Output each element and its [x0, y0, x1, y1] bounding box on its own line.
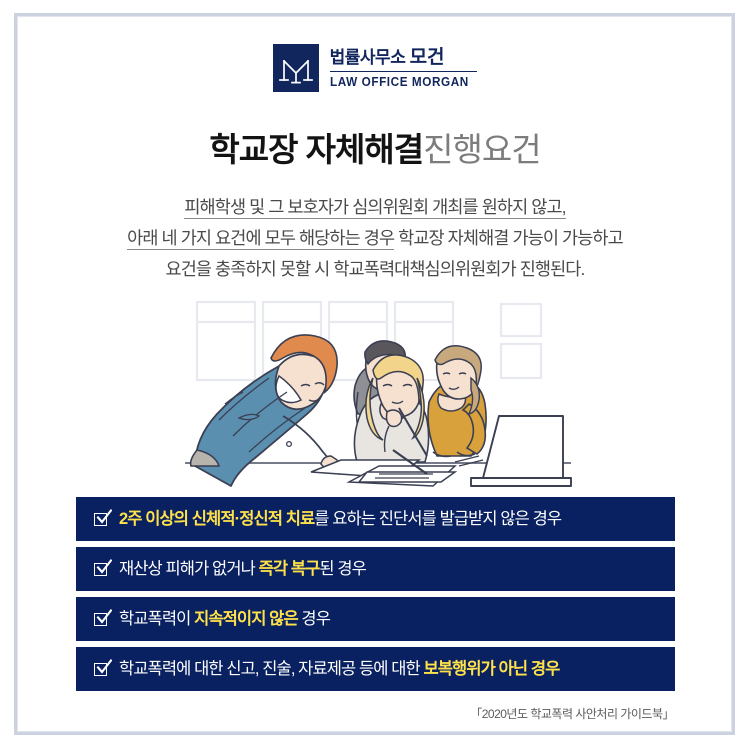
checkbox-checked-icon [94, 512, 109, 527]
checkbox-checked-icon [94, 662, 109, 677]
logo-divider [330, 71, 478, 72]
logo-name-kr-prefix: 법률사무소 [330, 48, 406, 67]
person-right [428, 346, 486, 457]
logo-wordmark: 법률사무소 모건 LAW OFFICE MORGAN [330, 48, 478, 89]
checklist-plain-text: 경우 [298, 610, 330, 628]
checklist-plain-text: 를 요하는 진단서를 발급받지 않은 경우 [314, 510, 561, 528]
checklist-row-label: 2주 이상의 신체적·정신적 치료를 요하는 진단서를 발급받지 않은 경우 [119, 509, 561, 529]
requirements-checklist: 2주 이상의 신체적·정신적 치료를 요하는 진단서를 발급받지 않은 경우재산… [76, 497, 675, 697]
source-caption: 「2020년도 학교폭력 사안처리 가이드북」 [470, 705, 674, 722]
page-title-light: 진행요건 [423, 131, 540, 168]
logo-name-english: LAW OFFICE MORGAN [330, 75, 469, 89]
checklist-row: 재산상 피해가 없거나 즉각 복구된 경우 [76, 547, 675, 591]
brand-logo: 법률사무소 모건 LAW OFFICE MORGAN [0, 44, 750, 92]
logo-monogram-icon [273, 44, 319, 92]
checklist-row-label: 학교폭력에 대한 신고, 진술, 자료제공 등에 대한 보복행위가 아닌 경우 [119, 659, 559, 679]
intro-line-2: 아래 네 가지 요건에 모두 해당하는 경우 학교장 자체해결 가능이 가능하고 [0, 223, 750, 254]
page-title-strong: 학교장 자체해결 [209, 131, 423, 168]
logo-name-korean: 법률사무소 모건 [330, 48, 478, 68]
checkbox-checked-icon [94, 562, 109, 577]
page-title: 학교장 자체해결진행요건 [0, 130, 750, 170]
checklist-row-label: 학교폭력이 지속적이지 않은 경우 [119, 609, 330, 629]
intro-line-2-underlined: 아래 네 가지 요건에 모두 해당하는 경우 [127, 228, 394, 250]
table-documents [311, 460, 455, 486]
checklist-highlight-text: 2주 이상의 신체적·정신적 치료 [119, 510, 314, 528]
intro-line-1-text: 피해학생 및 그 보호자가 심의위원회 개최를 원하지 않고, [184, 197, 565, 219]
checklist-row: 학교폭력에 대한 신고, 진술, 자료제공 등에 대한 보복행위가 아닌 경우 [76, 647, 675, 691]
checklist-plain-text: 학교폭력이 [119, 610, 194, 628]
meeting-illustration [183, 300, 573, 495]
checklist-row: 학교폭력이 지속적이지 않은 경우 [76, 597, 675, 641]
checklist-plain-text: 된 경우 [319, 560, 366, 578]
checklist-row-label: 재산상 피해가 없거나 즉각 복구된 경우 [119, 559, 366, 579]
checklist-highlight-text: 지속적이지 않은 [194, 610, 298, 628]
checklist-plain-text: 재산상 피해가 없거나 [119, 560, 259, 578]
intro-line-2-plain: 학교장 자체해결 가능이 가능하고 [394, 228, 623, 248]
intro-line-3: 요건을 충족하지 못할 시 학교폭력대책심의위원회가 진행된다. [0, 254, 750, 285]
checklist-highlight-text: 즉각 복구 [259, 560, 320, 578]
intro-line-1: 피해학생 및 그 보호자가 심의위원회 개최를 원하지 않고, [0, 192, 750, 223]
checklist-row: 2주 이상의 신체적·정신적 치료를 요하는 진단서를 발급받지 않은 경우 [76, 497, 675, 541]
checklist-highlight-text: 보복행위가 아닌 경우 [423, 660, 559, 678]
checkbox-checked-icon [94, 612, 109, 627]
intro-paragraph: 피해학생 및 그 보호자가 심의위원회 개최를 원하지 않고, 아래 네 가지 … [0, 192, 750, 285]
logo-name-kr-main: 모건 [410, 47, 445, 68]
checklist-plain-text: 학교폭력에 대한 신고, 진술, 자료제공 등에 대한 [119, 660, 423, 678]
